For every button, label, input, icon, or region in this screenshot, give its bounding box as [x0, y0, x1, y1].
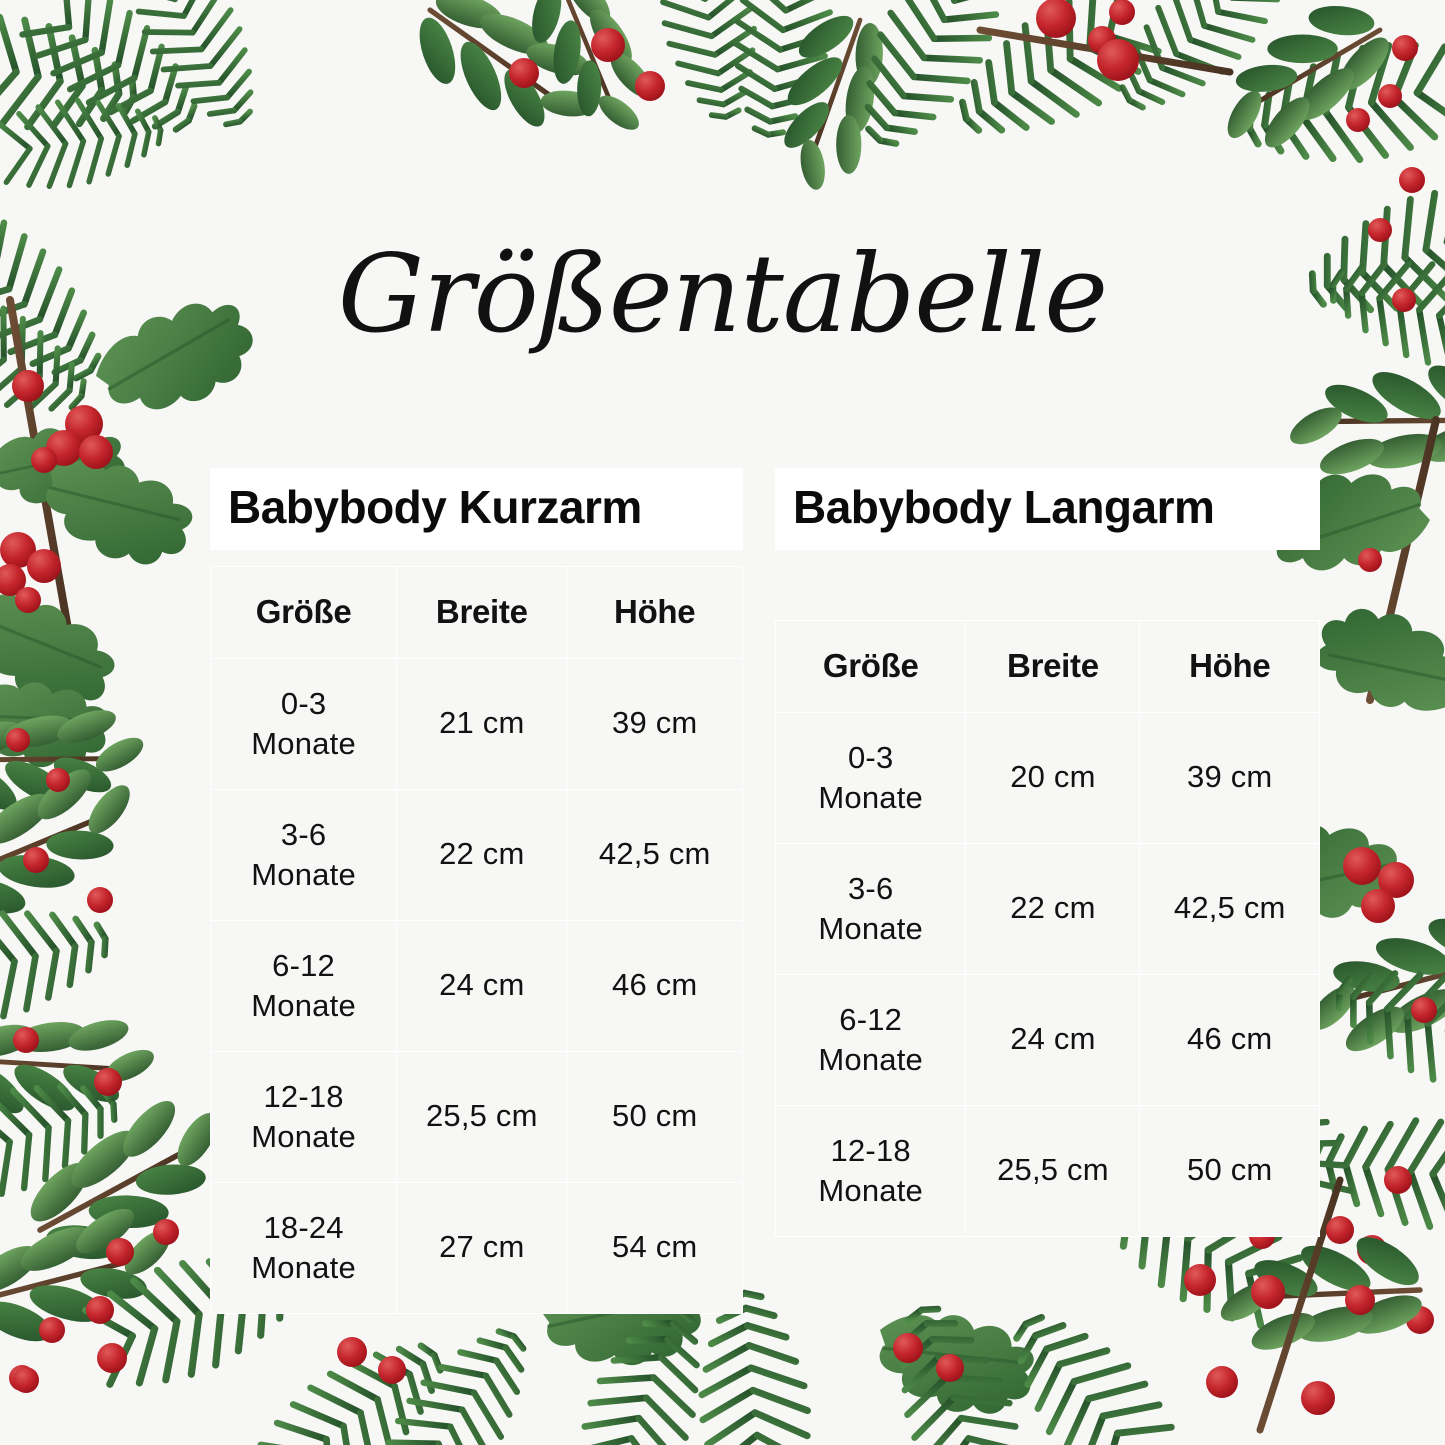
cell-height: 50 cm: [567, 1051, 743, 1182]
banner-spacer: [210, 550, 743, 566]
cell-size: 18-24 Monate: [211, 1182, 397, 1313]
cell-width: 22 cm: [397, 789, 567, 920]
size-unit: Monate: [818, 1173, 923, 1208]
table-row: 3-6 Monate 22 cm 42,5 cm: [211, 789, 743, 920]
column-header-width: Breite: [966, 620, 1140, 712]
size-range: 6-12: [272, 948, 335, 983]
cell-height: 42,5 cm: [1140, 843, 1320, 974]
cell-height: 54 cm: [567, 1182, 743, 1313]
cell-width: 24 cm: [397, 920, 567, 1051]
banner-spacer: [775, 550, 1320, 620]
size-unit: Monate: [251, 1250, 356, 1285]
cell-height: 46 cm: [567, 920, 743, 1051]
column-header-size: Größe: [776, 620, 966, 712]
table-babybody-langarm: Größe Breite Höhe 0-3 Monate 20 cm 39 cm: [775, 620, 1320, 1237]
cell-size: 3-6 Monate: [776, 843, 966, 974]
cell-size: 3-6 Monate: [211, 789, 397, 920]
size-range: 3-6: [281, 817, 326, 852]
size-chart-page: Größentabelle Babybody Kurzarm Größe Bre…: [0, 0, 1445, 1445]
chart-heading-langarm: Babybody Langarm: [775, 468, 1320, 550]
size-range: 18-24: [263, 1210, 343, 1245]
page-title: Größentabelle: [0, 232, 1445, 357]
size-chart-babybody-langarm: Babybody Langarm Größe Breite Höhe 0-3 M…: [775, 468, 1320, 1237]
column-header-height: Höhe: [1140, 620, 1320, 712]
size-unit: Monate: [818, 780, 923, 815]
cell-size: 6-12 Monate: [776, 974, 966, 1105]
size-unit: Monate: [818, 911, 923, 946]
table-row: 0-3 Monate 21 cm 39 cm: [211, 658, 743, 789]
table-row: 12-18 Monate 25,5 cm 50 cm: [211, 1051, 743, 1182]
table-row: 6-12 Monate 24 cm 46 cm: [776, 974, 1320, 1105]
cell-height: 50 cm: [1140, 1105, 1320, 1236]
size-range: 0-3: [848, 740, 893, 775]
size-unit: Monate: [251, 1119, 356, 1154]
size-unit: Monate: [818, 1042, 923, 1077]
size-range: 0-3: [281, 686, 326, 721]
cell-height: 39 cm: [1140, 712, 1320, 843]
cell-width: 20 cm: [966, 712, 1140, 843]
table-row: 3-6 Monate 22 cm 42,5 cm: [776, 843, 1320, 974]
size-range: 12-18: [263, 1079, 343, 1114]
column-header-height: Höhe: [567, 566, 743, 658]
size-range: 12-18: [831, 1133, 911, 1168]
table-row: 6-12 Monate 24 cm 46 cm: [211, 920, 743, 1051]
size-unit: Monate: [251, 857, 356, 892]
size-range: 3-6: [848, 871, 893, 906]
decor-top: [0, 0, 1445, 211]
cell-height: 46 cm: [1140, 974, 1320, 1105]
size-range: 6-12: [839, 1002, 902, 1037]
cell-height: 39 cm: [567, 658, 743, 789]
cell-size: 0-3 Monate: [211, 658, 397, 789]
cell-height: 42,5 cm: [567, 789, 743, 920]
column-header-size: Größe: [211, 566, 397, 658]
table-header-row: Größe Breite Höhe: [776, 620, 1320, 712]
size-chart-babybody-kurzarm: Babybody Kurzarm Größe Breite Höhe 0-3 M…: [210, 468, 743, 1314]
cell-width: 24 cm: [966, 974, 1140, 1105]
table-header-row: Größe Breite Höhe: [211, 566, 743, 658]
cell-width: 25,5 cm: [966, 1105, 1140, 1236]
cell-width: 27 cm: [397, 1182, 567, 1313]
cell-size: 0-3 Monate: [776, 712, 966, 843]
size-unit: Monate: [251, 988, 356, 1023]
chart-heading-kurzarm: Babybody Kurzarm: [210, 468, 743, 550]
table-babybody-kurzarm: Größe Breite Höhe 0-3 Monate 21 cm 39 cm: [210, 566, 743, 1314]
table-row: 12-18 Monate 25,5 cm 50 cm: [776, 1105, 1320, 1236]
table-row: 18-24 Monate 27 cm 54 cm: [211, 1182, 743, 1313]
cell-width: 22 cm: [966, 843, 1140, 974]
cell-width: 21 cm: [397, 658, 567, 789]
cell-size: 12-18 Monate: [211, 1051, 397, 1182]
column-header-width: Breite: [397, 566, 567, 658]
cell-width: 25,5 cm: [397, 1051, 567, 1182]
table-row: 0-3 Monate 20 cm 39 cm: [776, 712, 1320, 843]
cell-size: 6-12 Monate: [211, 920, 397, 1051]
size-unit: Monate: [251, 726, 356, 761]
cell-size: 12-18 Monate: [776, 1105, 966, 1236]
